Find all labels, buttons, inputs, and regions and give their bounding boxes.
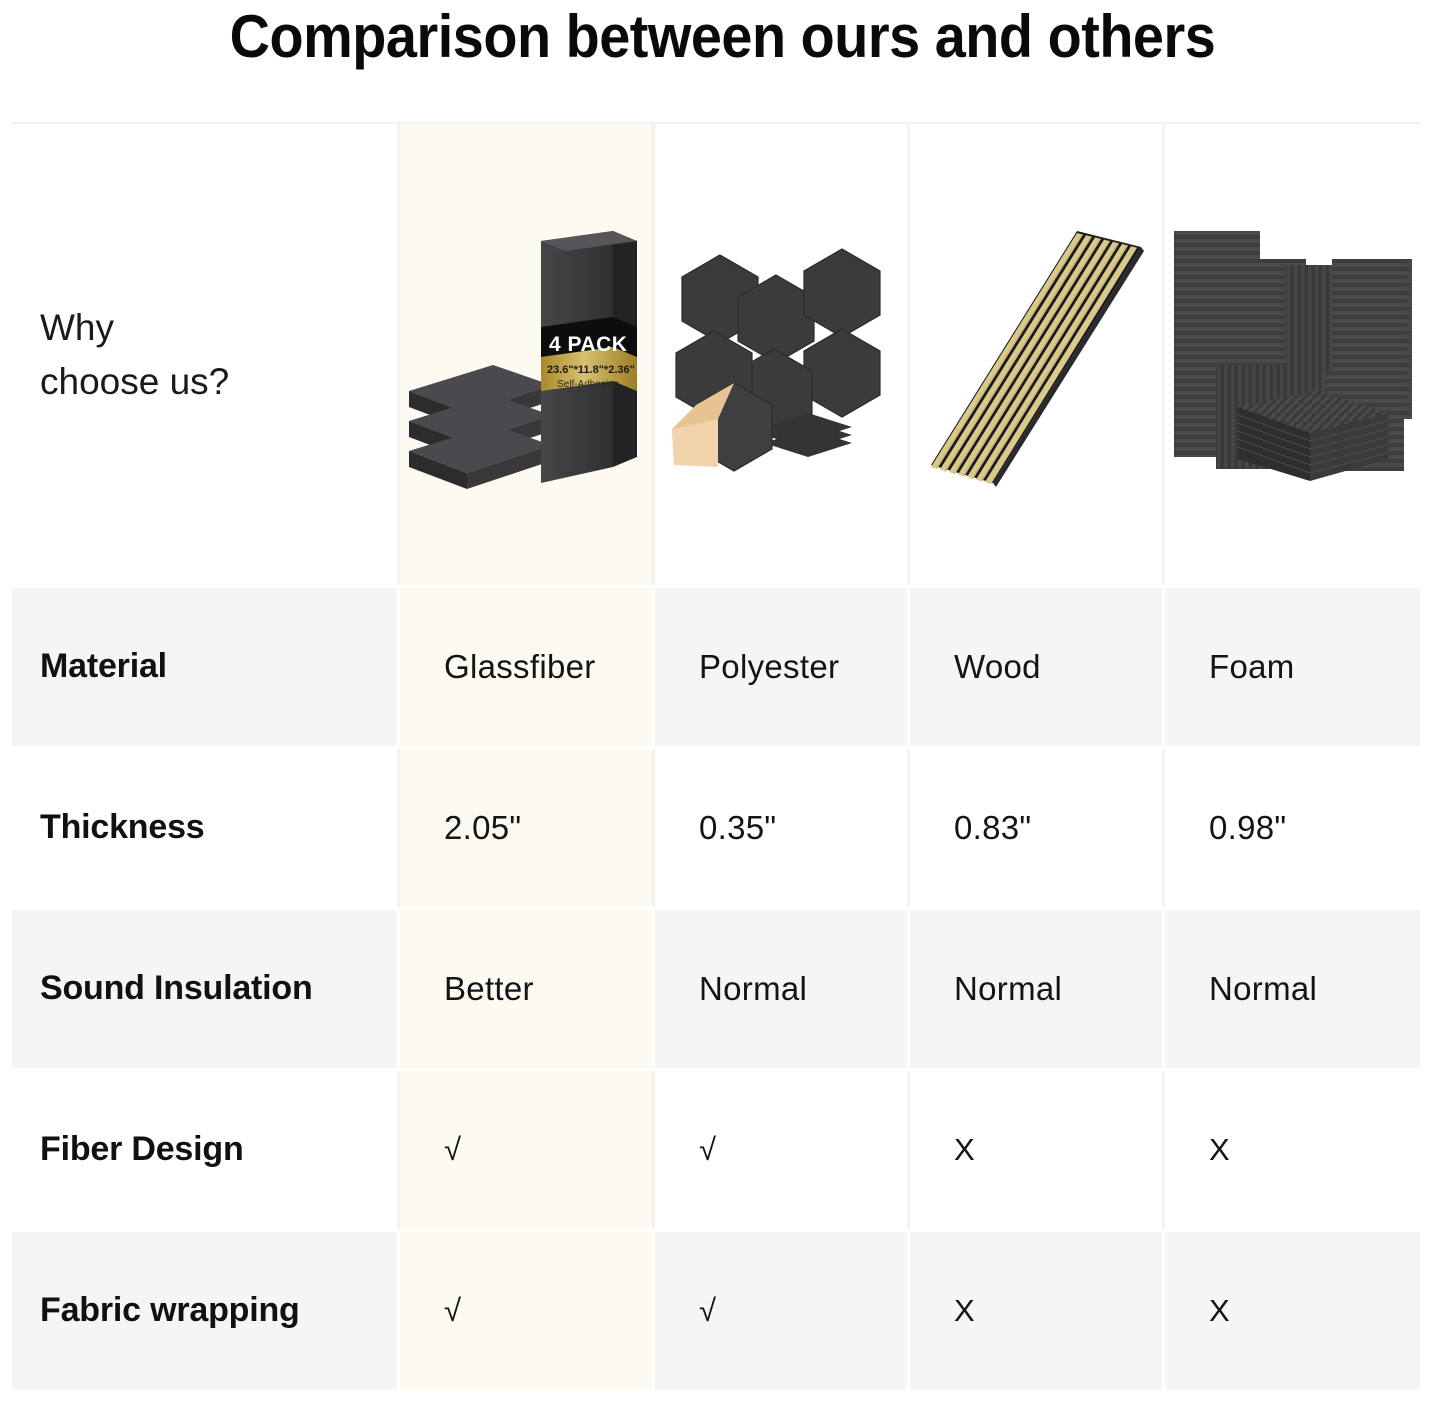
row-label-cell: Fabric wrapping [12,1232,400,1390]
why-choose-us-label: Why choose us? [12,301,229,408]
cell-value: Glassfiber [400,648,596,686]
row-label: Thickness [12,808,205,847]
wood-slat-panel-image [910,124,1162,585]
value-cell-foam: X [1165,1232,1420,1390]
svg-text:4 PACK: 4 PACK [549,333,627,356]
cell-value: Normal [1165,970,1317,1008]
header-cell-ours: 4 PACK 23.6"*11.8"*2.36" Self-Adhesive [400,124,655,585]
value-cell-wood: X [910,1232,1165,1390]
cell-value: Normal [910,970,1062,1008]
svg-text:23.6"*11.8"*2.36": 23.6"*11.8"*2.36" [547,364,635,376]
value-cell-foam: X [1165,1071,1420,1229]
svg-text:Self-Adhesive: Self-Adhesive [557,379,619,390]
comparison-table: Why choose us? [12,122,1420,1390]
value-cell-foam: 0.98" [1165,749,1420,907]
table-row: Thickness 2.05" 0.35" 0.83" 0.98" [12,746,1420,907]
row-label-cell: Sound Insulation [12,910,400,1068]
value-cell-foam: Foam [1165,588,1420,746]
header-cell-wood [910,124,1165,585]
value-cell-ours: √ [400,1071,655,1229]
value-cell-foam: Normal [1165,910,1420,1068]
cell-value: Foam [1165,648,1295,686]
value-cell-polyester: Normal [655,910,910,1068]
value-cell-wood: Normal [910,910,1165,1068]
table-row: Fabric wrapping √ √ X X [12,1229,1420,1390]
cross-mark-icon: X [1165,1132,1230,1168]
cell-value: 0.35" [655,809,776,847]
header-cell-foam [1165,124,1420,585]
cell-value: 0.98" [1165,809,1286,847]
table-header-row: Why choose us? [12,124,1420,585]
ours-glassfiber-panel-image: 4 PACK 23.6"*11.8"*2.36" Self-Adhesive [400,124,652,585]
cell-value: 2.05" [400,809,521,847]
cell-value: Wood [910,648,1041,686]
row-label-cell: Thickness [12,749,400,907]
value-cell-wood: Wood [910,588,1165,746]
table-row: Fiber Design √ √ X X [12,1068,1420,1229]
value-cell-polyester: 0.35" [655,749,910,907]
value-cell-polyester: √ [655,1071,910,1229]
why-choose-us-cell: Why choose us? [12,124,400,585]
table-row: Material Glassfiber Polyester Wood Foam [12,585,1420,746]
cell-value: 0.83" [910,809,1031,847]
page-title: Comparison between ours and others [51,2,1395,71]
cross-mark-icon: X [910,1132,975,1168]
cell-value: Normal [655,970,807,1008]
row-label-cell: Material [12,588,400,746]
check-mark-icon: √ [400,1293,461,1329]
check-mark-icon: √ [655,1293,716,1329]
value-cell-polyester: Polyester [655,588,910,746]
value-cell-wood: 0.83" [910,749,1165,907]
row-label: Fabric wrapping [12,1291,300,1330]
table-row: Sound Insulation Better Normal Normal No… [12,907,1420,1068]
row-label: Material [12,647,167,686]
comparison-infographic: Comparison between ours and others Why c… [0,0,1445,1407]
value-cell-ours: √ [400,1232,655,1390]
polyester-hexagon-panel-image [655,124,907,585]
row-label: Sound Insulation [12,969,313,1008]
row-label-cell: Fiber Design [12,1071,400,1229]
header-cell-polyester [655,124,910,585]
value-cell-ours: Glassfiber [400,588,655,746]
foam-wedge-panel-image [1165,124,1420,585]
cell-value: Polyester [655,648,839,686]
value-cell-wood: X [910,1071,1165,1229]
value-cell-polyester: √ [655,1232,910,1390]
value-cell-ours: Better [400,910,655,1068]
cross-mark-icon: X [910,1293,975,1329]
check-mark-icon: √ [400,1132,461,1168]
cell-value: Better [400,970,534,1008]
value-cell-ours: 2.05" [400,749,655,907]
row-label: Fiber Design [12,1130,244,1169]
check-mark-icon: √ [655,1132,716,1168]
cross-mark-icon: X [1165,1293,1230,1329]
